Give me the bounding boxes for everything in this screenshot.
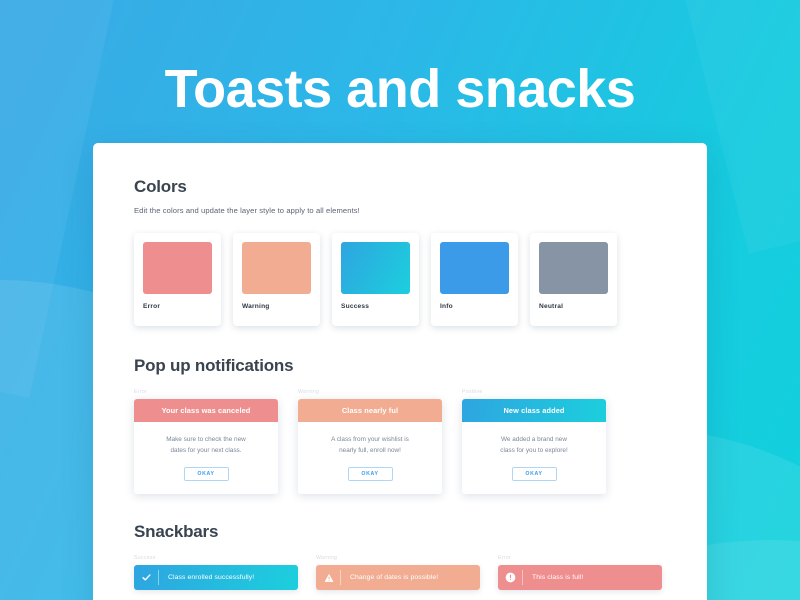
popup-card: Your class was canceled Make sure to che… [134, 399, 278, 494]
snackbar-kind-label: Success [134, 555, 298, 562]
popup-card-title: Class nearly ful [298, 399, 442, 422]
color-swatch-label: Neutral [539, 303, 608, 310]
popup-card-body: We added a brand new class for you to ex… [462, 422, 606, 494]
snackbars-section: Snackbars Success Class enrolled success… [134, 522, 666, 590]
snackbar-message: This class is full! [523, 574, 583, 581]
popup-okay-button[interactable]: OKAY [348, 467, 393, 481]
colors-section: Colors Edit the colors and update the la… [134, 177, 666, 326]
popup-card-title: New class added [462, 399, 606, 422]
popup-card-wrapper: Positive New class added We added a bran… [462, 389, 606, 494]
color-swatch-label: Info [440, 303, 509, 310]
snackbar-kind-label: Error [498, 555, 662, 562]
color-swatch-label: Success [341, 303, 410, 310]
app-canvas: Toasts and snacks Colors Edit the colors… [0, 0, 800, 600]
color-chip[interactable] [539, 242, 608, 294]
color-swatch-card[interactable]: Success [332, 233, 419, 326]
color-swatch-card[interactable]: Error [134, 233, 221, 326]
popup-card-body: A class from your wishlist is nearly ful… [298, 422, 442, 494]
colors-section-heading: Colors [134, 177, 666, 197]
snackbar-message: Class enrolled successfully! [159, 574, 254, 581]
popup-kind-label: Warning [298, 389, 442, 396]
exclamation-circle-icon [498, 565, 523, 590]
popup-body-line2: nearly full, enroll now! [310, 446, 430, 457]
color-swatch-row: Error Warning Success Info Neutral [134, 233, 666, 326]
popup-card-wrapper: Error Your class was canceled Make sure … [134, 389, 278, 494]
snackbar-message: Change of dates is possible! [341, 574, 438, 581]
snackbar: This class is full! [498, 565, 662, 590]
color-swatch-card[interactable]: Info [431, 233, 518, 326]
color-swatch-card[interactable]: Neutral [530, 233, 617, 326]
popup-card-row: Error Your class was canceled Make sure … [134, 389, 666, 494]
popup-body-line1: We added a brand new [474, 435, 594, 446]
color-chip[interactable] [242, 242, 311, 294]
popup-card-body: Make sure to check the new dates for you… [134, 422, 278, 494]
popup-card: New class added We added a brand new cla… [462, 399, 606, 494]
page-title: Toasts and snacks [0, 60, 800, 119]
popup-body-line1: A class from your wishlist is [310, 435, 430, 446]
color-chip[interactable] [341, 242, 410, 294]
popups-section-heading: Pop up notifications [134, 356, 666, 376]
popups-section: Pop up notifications Error Your class wa… [134, 356, 666, 494]
snackbar-wrapper: Warning Change of dates is possible! [316, 555, 480, 590]
color-swatch-card[interactable]: Warning [233, 233, 320, 326]
popup-kind-label: Positive [462, 389, 606, 396]
popup-body-line2: class for you to explore! [474, 446, 594, 457]
popup-okay-button[interactable]: OKAY [184, 467, 229, 481]
snackbar-wrapper: Error This class is full! [498, 555, 662, 590]
popup-card: Class nearly ful A class from your wishl… [298, 399, 442, 494]
color-chip[interactable] [143, 242, 212, 294]
snackbar-wrapper: Success Class enrolled successfully! [134, 555, 298, 590]
color-swatch-label: Warning [242, 303, 311, 310]
colors-section-subtitle: Edit the colors and update the layer sty… [134, 206, 666, 215]
color-swatch-label: Error [143, 303, 212, 310]
popup-kind-label: Error [134, 389, 278, 396]
check-icon [134, 565, 159, 590]
content-panel: Colors Edit the colors and update the la… [93, 143, 707, 600]
snackbar: Class enrolled successfully! [134, 565, 298, 590]
popup-body-line1: Make sure to check the new [146, 435, 266, 446]
snackbar-row: Success Class enrolled successfully! War… [134, 555, 666, 590]
popup-body-line2: dates for your next class. [146, 446, 266, 457]
snackbar: Change of dates is possible! [316, 565, 480, 590]
popup-card-title: Your class was canceled [134, 399, 278, 422]
color-chip[interactable] [440, 242, 509, 294]
snackbars-section-heading: Snackbars [134, 522, 666, 542]
snackbar-kind-label: Warning [316, 555, 480, 562]
warning-triangle-icon [316, 565, 341, 590]
popup-card-wrapper: Warning Class nearly ful A class from yo… [298, 389, 442, 494]
popup-okay-button[interactable]: OKAY [512, 467, 557, 481]
